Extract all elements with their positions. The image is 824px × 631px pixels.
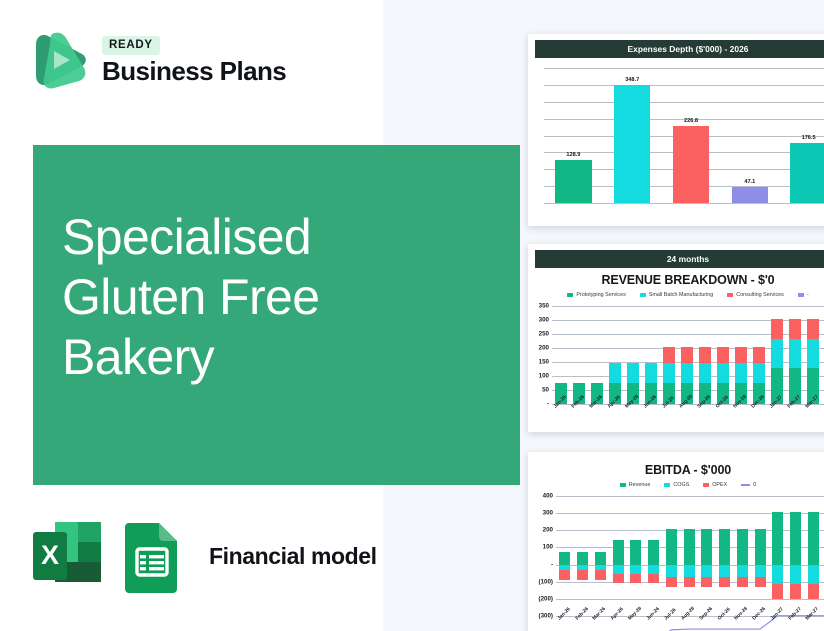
x-tick: Mar-27 xyxy=(804,404,822,430)
bar-column: 128.9 xyxy=(544,68,603,203)
chart-title-ebitda: EBITDA - $'000 xyxy=(528,463,824,477)
bar-segment xyxy=(645,363,656,383)
x-tick: Jan-27 xyxy=(769,616,787,631)
chart-plot-ebitda: 400300200100-(100)(200)(300) Jan-26Feb-2… xyxy=(556,496,824,616)
x-tick: Aug-26 xyxy=(678,404,696,430)
play-triangle-logo-icon xyxy=(32,30,90,90)
y-axis-tick: 200 xyxy=(539,345,549,352)
page-title: Specialised Gluten Free Bakery xyxy=(62,207,482,387)
x-tick: Jan-26 xyxy=(552,404,570,430)
x-tick: Mar-26 xyxy=(588,404,606,430)
legend-swatch xyxy=(620,483,626,487)
bar-segment xyxy=(771,339,782,368)
bar-column: 176.5 xyxy=(779,68,824,203)
bar-segment xyxy=(699,363,710,383)
bar-segment xyxy=(663,347,674,363)
legend-label: Prototyping Services xyxy=(576,292,625,298)
brand-lockup: READY Business Plans xyxy=(32,30,286,90)
legend-item: Revenue xyxy=(620,482,651,488)
chart-legend-ebitda: RevenueCOGSOPEX0 xyxy=(528,482,824,488)
y-axis-tick: 50 xyxy=(542,387,549,394)
svg-text:X: X xyxy=(41,540,59,570)
bar-segment xyxy=(609,363,620,383)
bar-column xyxy=(768,306,786,404)
legend-item: 0 xyxy=(741,482,756,488)
x-tick: Nov-26 xyxy=(732,404,750,430)
bar-column: 226.8 xyxy=(662,68,721,203)
bar xyxy=(732,187,768,203)
bar-value-label: 176.5 xyxy=(802,135,816,141)
legend-item: OPEX xyxy=(703,482,727,488)
x-tick: Mar-26 xyxy=(592,616,610,631)
x-tick: Nov-26 xyxy=(734,616,752,631)
legend-label: Consulting Services xyxy=(736,292,784,298)
bar-segment xyxy=(753,347,764,363)
bar-column: 348.7 xyxy=(603,68,662,203)
google-sheets-icon xyxy=(123,519,185,593)
x-tick: Jul-26 xyxy=(660,404,678,430)
y-axis-tick: 300 xyxy=(543,510,553,517)
legend-swatch xyxy=(703,483,709,487)
bar-column xyxy=(642,306,660,404)
x-tick: Sep-26 xyxy=(698,616,716,631)
bar-column xyxy=(714,306,732,404)
legend-item: Consulting Services xyxy=(727,292,784,298)
legend-item: COGS xyxy=(664,482,689,488)
x-tick: Sep-26 xyxy=(696,404,714,430)
gridline xyxy=(544,203,824,204)
bar-value-label: 348.7 xyxy=(625,77,639,83)
bar-segment xyxy=(807,339,818,368)
bar-segment xyxy=(789,319,800,339)
chart-card-revenue-breakdown: 24 months REVENUE BREAKDOWN - $'0 Protot… xyxy=(528,244,824,432)
y-axis-tick: 150 xyxy=(539,359,549,366)
bar-column xyxy=(696,306,714,404)
bar-column xyxy=(606,306,624,404)
bar xyxy=(614,85,650,203)
ready-badge: READY xyxy=(102,36,160,55)
bar-value-label: 226.8 xyxy=(684,118,698,124)
x-tick: Feb-26 xyxy=(574,616,592,631)
y-axis-tick: 400 xyxy=(543,493,553,500)
bar-column xyxy=(588,306,606,404)
x-axis-labels-ebitda: Jan-26Feb-26Mar-26Apr-26May-26Jun-26Jul-… xyxy=(556,616,824,631)
legend-label: OPEX xyxy=(712,482,727,488)
x-tick: Aug-26 xyxy=(680,616,698,631)
x-tick: Oct-26 xyxy=(716,616,734,631)
legend-label: 0 xyxy=(753,482,756,488)
bar-segment xyxy=(681,363,692,383)
y-axis-tick: - xyxy=(547,401,549,408)
bar-value-label: 47.1 xyxy=(744,179,755,185)
legend-label: Revenue xyxy=(629,482,651,488)
x-tick: Oct-26 xyxy=(714,404,732,430)
x-tick: Jun-26 xyxy=(642,404,660,430)
x-tick: Feb-26 xyxy=(570,404,588,430)
y-axis-tick: (200) xyxy=(539,595,553,602)
x-axis-labels-revenue: Jan-26Feb-26Mar-26Apr-26May-26Jun-26Jul-… xyxy=(552,404,824,430)
y-axis-tick: 100 xyxy=(543,544,553,551)
y-axis-tick: (100) xyxy=(539,578,553,585)
bar xyxy=(790,143,824,203)
legend-swatch xyxy=(640,293,646,297)
x-tick: May-26 xyxy=(624,404,642,430)
bar-segment xyxy=(735,363,746,383)
x-tick: Jun-26 xyxy=(645,616,663,631)
legend-item: Prototyping Services xyxy=(567,292,625,298)
legend-swatch xyxy=(567,293,573,297)
legend-swatch xyxy=(664,483,670,487)
x-tick: Jan-26 xyxy=(556,616,574,631)
x-tick: Dec-26 xyxy=(751,616,769,631)
bar-segment xyxy=(789,339,800,368)
hero-block: Specialised Gluten Free Bakery xyxy=(33,145,520,485)
bar-column xyxy=(552,306,570,404)
legend-swatch xyxy=(798,293,804,297)
legend-label: Small Batch Manufacturing xyxy=(649,292,713,298)
bar-column xyxy=(624,306,642,404)
bar-column xyxy=(750,306,768,404)
chart-card-expenses-depth: Expenses Depth ($'000) - 2026 128.9348.7… xyxy=(528,34,824,226)
x-tick: May-26 xyxy=(627,616,645,631)
bars-revenue xyxy=(552,306,824,404)
chart-band-expenses: Expenses Depth ($'000) - 2026 xyxy=(535,40,824,58)
bar-segment xyxy=(663,363,674,383)
y-axis-tick: 350 xyxy=(539,303,549,310)
bar-segment xyxy=(771,319,782,339)
legend-swatch xyxy=(727,293,733,297)
x-tick: Apr-26 xyxy=(609,616,627,631)
x-tick: Dec-26 xyxy=(750,404,768,430)
legend-label: COGS xyxy=(673,482,689,488)
financial-model-label: Financial model xyxy=(209,543,377,570)
legend-item: Small Batch Manufacturing xyxy=(640,292,713,298)
chart-plot-expenses: 128.9348.7226.847.1176.5 xyxy=(544,68,824,203)
bar-segment xyxy=(717,347,728,363)
microsoft-excel-icon: X xyxy=(31,519,103,593)
footer-formats: X Financial model xyxy=(31,519,377,593)
brand-name: Business Plans xyxy=(102,58,286,84)
bar-segment xyxy=(735,347,746,363)
bar-segment xyxy=(627,363,638,383)
x-tick: Jul-26 xyxy=(663,616,681,631)
legend-item: - xyxy=(798,292,809,298)
bar xyxy=(673,126,709,203)
bar-column xyxy=(786,306,804,404)
chart-legend-revenue: Prototyping ServicesSmall Batch Manufact… xyxy=(528,292,824,298)
y-axis-tick: 100 xyxy=(539,373,549,380)
bar-segment xyxy=(753,363,764,383)
x-tick: Feb-27 xyxy=(786,404,804,430)
y-axis-tick: 250 xyxy=(539,331,549,338)
bar-segment xyxy=(681,347,692,363)
x-tick: Mar-27 xyxy=(805,616,823,631)
bar-column xyxy=(660,306,678,404)
bar-column: 47.1 xyxy=(720,68,779,203)
chart-band-revenue: 24 months xyxy=(535,250,824,268)
bar-value-label: 128.9 xyxy=(566,152,580,158)
bar-segment xyxy=(717,363,728,383)
legend-swatch xyxy=(741,484,750,486)
chart-plot-revenue: 35030025020015010050- Jan-26Feb-26Mar-26… xyxy=(552,306,824,404)
brand-text: READY Business Plans xyxy=(102,36,286,84)
y-axis-tick: (300) xyxy=(539,613,553,620)
y-axis-tick: 300 xyxy=(539,317,549,324)
bar xyxy=(555,160,591,204)
x-tick: Jan-27 xyxy=(768,404,786,430)
chart-card-ebitda: EBITDA - $'000 RevenueCOGSOPEX0 40030020… xyxy=(528,452,824,631)
bar-segment xyxy=(807,319,818,339)
bar-column xyxy=(678,306,696,404)
poster-canvas: READY Business Plans Specialised Gluten … xyxy=(0,0,824,631)
bar-column xyxy=(804,306,822,404)
chart-title-revenue: REVENUE BREAKDOWN - $'0 xyxy=(528,273,824,287)
bar-segment xyxy=(699,347,710,363)
bars-expenses: 128.9348.7226.847.1176.5 xyxy=(544,68,824,203)
y-axis-tick: - xyxy=(551,561,553,568)
legend-label: - xyxy=(807,292,809,298)
x-tick: Feb-27 xyxy=(787,616,805,631)
y-axis-tick: 200 xyxy=(543,527,553,534)
bar-column xyxy=(570,306,588,404)
bar-column xyxy=(732,306,750,404)
x-tick: Apr-26 xyxy=(606,404,624,430)
